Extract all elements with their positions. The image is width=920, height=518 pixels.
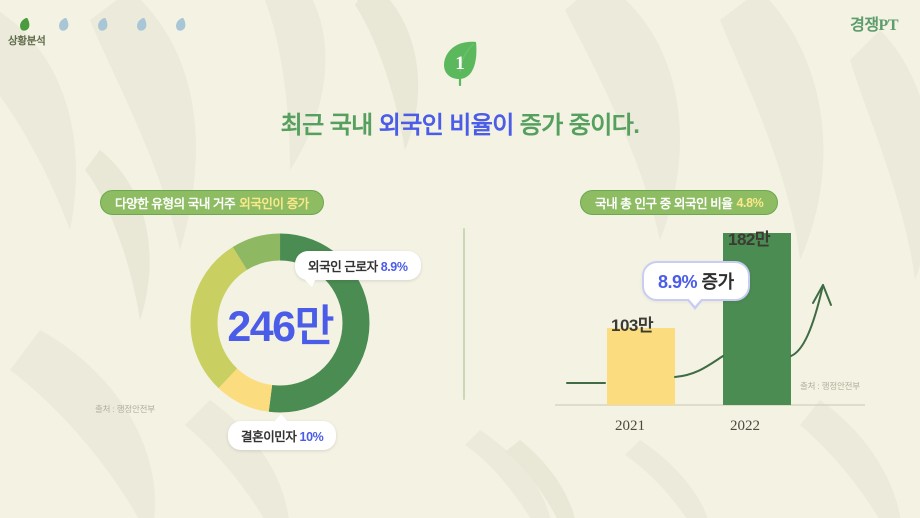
left-pill-accent-text: 외국인이 증가 (239, 193, 309, 212)
section-number-badge: 1 (440, 38, 480, 86)
brand-logo: 경쟁PT (850, 11, 898, 35)
left-chart-title-pill: 다양한 유형의 국내 거주 외국인이 증가 (100, 190, 324, 215)
bar-value-2021: 103만 (611, 311, 653, 336)
bar-2021 (607, 328, 675, 405)
step-leaf-1-icon[interactable] (18, 18, 31, 31)
step-indicator-group (18, 18, 187, 31)
growth-callout-tail-inner-icon (688, 298, 702, 306)
right-chart-source: 출처 : 행정안전부 (800, 380, 860, 392)
growth-word-text: 증가 (702, 272, 734, 292)
tooltip-foreign-worker: 외국인 근로자8.9% (295, 251, 421, 280)
headline-segment-3: 증가 중이다. (520, 112, 640, 139)
tooltip-marriage-value: 10% (300, 430, 324, 444)
step-leaf-5-icon[interactable] (174, 18, 187, 31)
tooltip-marriage-tail-icon (274, 414, 288, 422)
bar-chart (545, 225, 875, 440)
headline-segment-1: 최근 국내 (281, 112, 379, 139)
tooltip-worker-tail-icon (303, 278, 316, 287)
step-leaf-4-icon[interactable] (135, 18, 148, 31)
section-number-text: 1 (440, 38, 480, 86)
page-title: 최근 국내 외국인 비율이 증가 중이다. (0, 105, 920, 140)
right-pill-accent-text: 4.8% (736, 196, 763, 210)
growth-callout: 8.9% 증가 (642, 261, 750, 301)
tooltip-marriage-label: 결혼이민자 (241, 430, 297, 444)
step-leaf-3-icon[interactable] (96, 18, 109, 31)
tooltip-worker-label: 외국인 근로자 (308, 260, 378, 274)
panel-divider (463, 228, 465, 400)
headline-segment-2: 외국인 비율이 (379, 112, 520, 139)
trend-arrow-head-icon (813, 285, 831, 305)
right-chart-title-pill: 국내 총 인구 중 외국인 비율 4.8% (580, 190, 778, 215)
slide-canvas: 상황분석 경쟁PT 1 최근 국내 외국인 비율이 증가 중이다. 다양한 유형… (0, 0, 920, 518)
tooltip-worker-value: 8.9% (381, 260, 408, 274)
left-pill-main-text: 다양한 유형의 국내 거주 (115, 193, 235, 212)
step-label: 상황분석 (8, 33, 45, 48)
bar-category-2022: 2022 (730, 418, 760, 435)
left-chart-source: 출처 : 행정안전부 (95, 403, 155, 415)
tooltip-marriage-immigrant: 결혼이민자10% (228, 421, 336, 450)
step-leaf-2-icon[interactable] (57, 18, 70, 31)
bar-2022 (723, 233, 791, 405)
growth-percent-text: 8.9% (658, 272, 697, 292)
bar-value-2022: 182만 (728, 225, 770, 250)
right-pill-main-text: 국내 총 인구 중 외국인 비율 (595, 193, 732, 212)
donut-chart: 246만 (175, 218, 385, 428)
bar-category-2021: 2021 (615, 418, 645, 435)
